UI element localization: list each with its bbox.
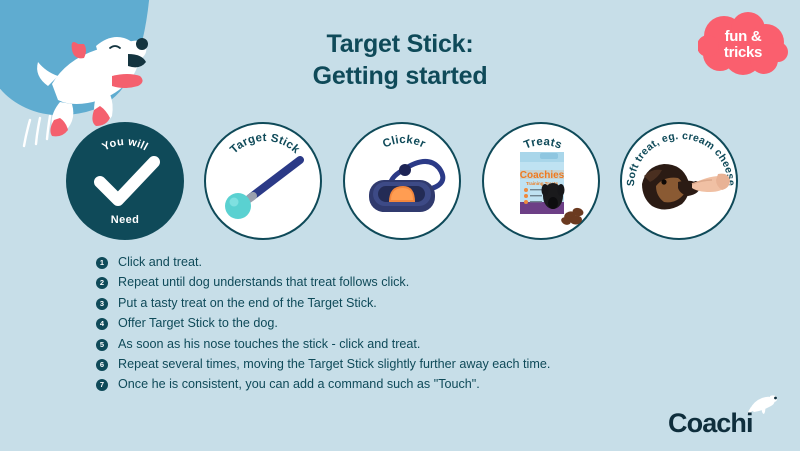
- dog-licking-finger-icon: [622, 124, 740, 242]
- step-number: 1: [96, 257, 108, 269]
- list-item: 7 Once he is consistent, you can add a c…: [96, 376, 716, 393]
- list-item: 6 Repeat several times, moving the Targe…: [96, 356, 716, 373]
- circle-clicker: Clicker: [343, 122, 461, 240]
- list-item: 3 Put a tasty treat on the end of the Ta…: [96, 295, 716, 312]
- list-item: 5 As soon as his nose touches the stick …: [96, 336, 716, 353]
- step-number: 7: [96, 379, 108, 391]
- page-title-line-2: Getting started: [0, 60, 800, 92]
- step-number: 2: [96, 277, 108, 289]
- step-text: Put a tasty treat on the end of the Targ…: [118, 295, 377, 311]
- coachi-wordmark: Coachi: [668, 410, 753, 437]
- step-text: Repeat several times, moving the Target …: [118, 356, 550, 372]
- step-text: Repeat until dog understands that treat …: [118, 274, 409, 290]
- step-text: Click and treat.: [118, 254, 202, 270]
- step-text: Offer Target Stick to the dog.: [118, 315, 278, 331]
- step-number: 6: [96, 359, 108, 371]
- list-item: 4 Offer Target Stick to the dog.: [96, 315, 716, 332]
- treat-bag-product-name: Coachies: [520, 170, 565, 181]
- step-text: As soon as his nose touches the stick - …: [118, 336, 420, 352]
- circle-treats: Treats Coachies Training Treats: [482, 122, 600, 240]
- list-item: 2 Repeat until dog understands that trea…: [96, 274, 716, 291]
- motion-lines: [24, 116, 50, 146]
- coachi-logo: Coachi: [668, 393, 780, 437]
- step-number: 4: [96, 318, 108, 330]
- instruction-steps: 1 Click and treat. 2 Repeat until dog un…: [96, 254, 716, 397]
- circle-bottom-label-need: Need: [66, 214, 184, 226]
- target-stick-icon: [206, 124, 324, 242]
- circle-target-stick: Target Stick: [204, 122, 322, 240]
- circle-soft-treat: Soft treat, eg. cream cheese: [620, 122, 738, 240]
- clicker-icon: [345, 124, 463, 242]
- equipment-circles: You will Need Target Stick Clicker: [58, 122, 758, 242]
- page-title: Target Stick: Getting started: [0, 28, 800, 92]
- page-title-line-1: Target Stick:: [0, 28, 800, 60]
- list-item: 1 Click and treat.: [96, 254, 716, 271]
- step-number: 3: [96, 298, 108, 310]
- circle-you-will-need: You will Need: [66, 122, 184, 240]
- step-text: Once he is consistent, you can add a com…: [118, 376, 480, 392]
- step-number: 5: [96, 339, 108, 351]
- treat-bag-icon: Coachies Training Treats: [484, 124, 602, 242]
- page-root: { "page": { "background_color": "#c7dee8…: [0, 0, 800, 451]
